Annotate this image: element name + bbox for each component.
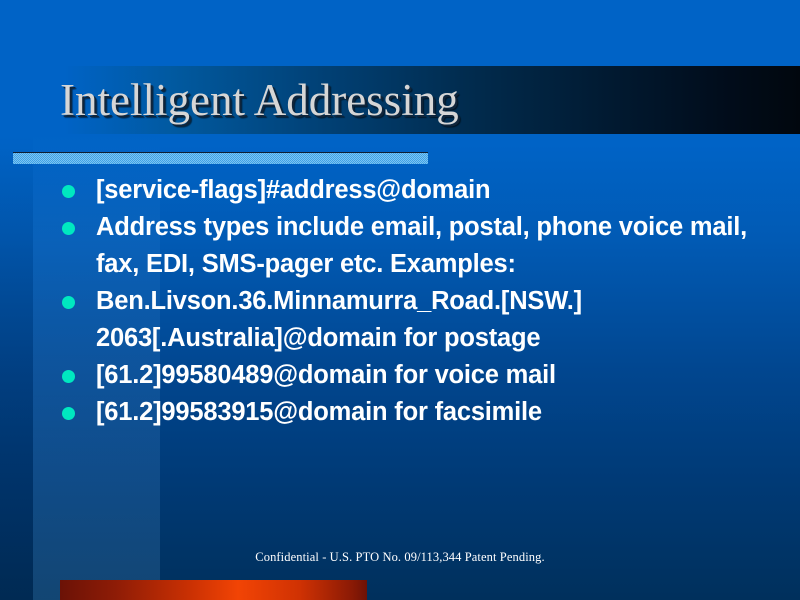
bullet-dot-icon [62,296,75,309]
bullet-text: [61.2]99583915@domain for facsimile [96,394,762,431]
bullet-dot-icon [62,407,75,420]
list-item: Ben.Livson.36.Minnamurra_Road.[NSW.] 206… [62,283,762,357]
presentation-slide: Intelligent Addressing [service-flags]#a… [0,0,800,600]
list-item: Address types include email, postal, pho… [62,209,762,283]
list-item: [service-flags]#address@domain [62,172,762,209]
bullet-dot-icon [62,185,75,198]
bullet-text: Ben.Livson.36.Minnamurra_Road.[NSW.] 206… [96,283,762,357]
accent-bar-bottom [60,580,367,600]
slide-title: Intelligent Addressing [60,72,459,128]
bullet-text: [service-flags]#address@domain [96,172,762,209]
list-item: [61.2]99583915@domain for facsimile [62,394,762,431]
title-divider-rule [13,152,428,164]
bullet-text: [61.2]99580489@domain for voice mail [96,357,762,394]
list-item: [61.2]99580489@domain for voice mail [62,357,762,394]
bullet-text: Address types include email, postal, pho… [96,209,762,283]
slide-footer-confidentiality-notice: Confidential - U.S. PTO No. 09/113,344 P… [0,550,800,565]
bullet-list: [service-flags]#address@domain Address t… [62,172,762,431]
bullet-dot-icon [62,222,75,235]
bullet-dot-icon [62,370,75,383]
